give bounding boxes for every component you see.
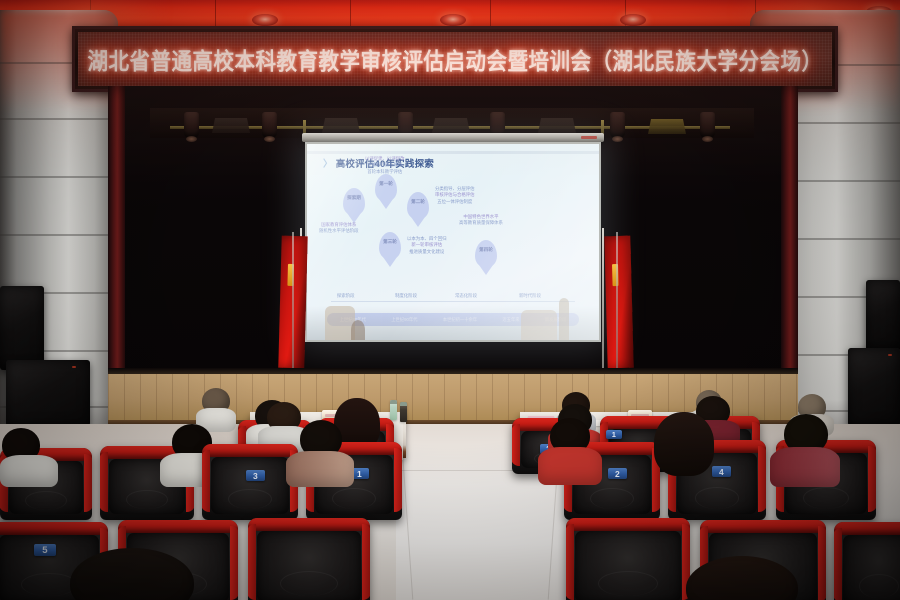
slide-title-chevron-icon: 〉: [323, 159, 333, 170]
seat-number: 2: [615, 469, 620, 479]
seat-number-plate: 2: [608, 468, 627, 479]
stage-light-icon: [262, 112, 277, 138]
pan-light-icon: [322, 118, 360, 133]
pin-label: 分类指导、分层评估审核评估与合格评估五位一体评估制度: [435, 186, 475, 205]
map-pin-icon: 探索期: [343, 188, 365, 216]
pan-light-icon: [648, 119, 686, 134]
attendee: [538, 418, 602, 484]
stage-light-icon: [700, 112, 715, 138]
loudspeaker: [848, 348, 900, 426]
foreground-silhouette: [559, 298, 569, 340]
seat-number-plate: 5: [34, 544, 56, 556]
stage-light-icon: [610, 112, 625, 138]
foreground-silhouette: [351, 320, 365, 340]
pin-label: 以评促建、以评促改评建结合重在建设首轮本科教学评估: [365, 156, 405, 175]
seat-number-plate: 3: [246, 470, 265, 481]
seat-number: 5: [42, 545, 48, 556]
ceiling-downlight-icon: [440, 14, 466, 26]
loudspeaker: [0, 286, 44, 370]
axis-tick: 新时代阶段: [519, 293, 541, 299]
seat-number-plate: 1: [606, 430, 622, 439]
ceiling-downlight-icon: [620, 14, 646, 26]
attendee: [286, 420, 354, 486]
auditorium-seat[interactable]: [834, 522, 900, 600]
axis-tick: 制度化阶段: [395, 293, 417, 299]
map-pin-icon: 第二轮: [407, 192, 429, 220]
map-pin-icon: 第四轮: [475, 240, 497, 268]
pin-label: 中国特色世界水平高等教育质量保障体系: [459, 214, 503, 227]
projection-screen: 〉高校评估40年实践探索 探索期 国家教育评估体系随机性水平评估阶段 第一轮 以…: [305, 142, 601, 342]
seat-number: 1: [357, 469, 362, 479]
pan-light-icon: [538, 118, 576, 133]
attendee: [0, 428, 58, 486]
axis-tick: 常态化阶段: [455, 293, 477, 299]
slide-content: 〉高校评估40年实践探索 探索期 国家教育评估体系随机性水平评估阶段 第一轮 以…: [307, 144, 599, 340]
flag-pole: [616, 232, 618, 377]
pin-label: 国家教育评估体系随机性水平评估阶段: [319, 222, 359, 235]
map-pin-icon: 第三轮: [379, 232, 401, 260]
national-flag: [604, 236, 633, 369]
conference-hall-photo: 湖北省普通高校本科教育教学审核评估启动会暨培训会（湖北民族大学分会场） 〉高校评…: [0, 0, 900, 600]
auditorium-seat[interactable]: 3: [202, 444, 298, 520]
foreground-silhouette: [521, 310, 557, 340]
pan-light-icon: [212, 118, 250, 133]
seat-number: 1: [612, 430, 616, 439]
seat-number: 3: [253, 471, 258, 481]
water-bottle: [390, 400, 397, 420]
attendee: [770, 414, 840, 486]
water-bottle: [400, 402, 407, 422]
proscenium-left: [108, 86, 125, 388]
banner-title-text: 湖北省普通高校本科教育教学审核评估启动会暨培训会（湖北民族大学分会场）: [88, 42, 823, 76]
stage-light-icon: [184, 112, 199, 138]
attendee-foreground: [676, 556, 808, 600]
projection-screen-roller: [302, 133, 604, 142]
map-pin-icon: 第一轮: [375, 174, 397, 202]
ceiling-downlight-icon: [252, 14, 278, 26]
pan-light-icon: [432, 118, 470, 133]
attendee: [648, 412, 722, 486]
axis-tick: 探索阶段: [337, 293, 355, 299]
led-banner-board: 湖北省普通高校本科教育教学审核评估启动会暨培训会（湖北民族大学分会场）: [72, 26, 838, 92]
flag-pole: [292, 232, 294, 377]
pin-label: 以本为本、四个回归新一轮审核评估推进质量文化建设: [407, 236, 447, 255]
proscenium-right: [781, 86, 798, 388]
auditorium-seat[interactable]: [566, 518, 690, 600]
auditorium-seat[interactable]: [248, 518, 370, 600]
loudspeaker: [6, 360, 90, 426]
loudspeaker: [866, 280, 900, 352]
attendee-foreground: [58, 548, 208, 600]
